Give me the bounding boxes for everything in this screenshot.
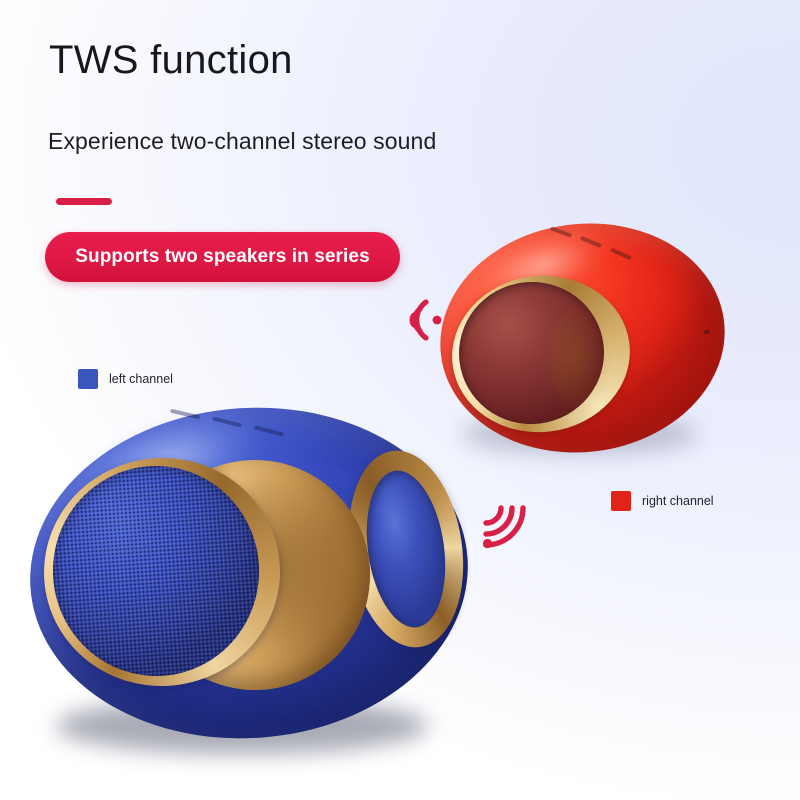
- legend-left-label: left channel: [109, 372, 173, 386]
- legend-right-swatch: [611, 491, 631, 511]
- wifi-signal-icon: [476, 498, 532, 554]
- feature-badge-label: Supports two speakers in series: [75, 246, 370, 268]
- legend-right-channel: right channel: [611, 491, 714, 511]
- product-feature-banner: TWS function Experience two-channel ster…: [0, 0, 800, 800]
- blue-speaker-mesh-texture: [46, 459, 266, 683]
- page-title: TWS function: [49, 38, 293, 83]
- legend-left-swatch: [78, 369, 98, 389]
- page-subtitle: Experience two-channel stereo sound: [48, 128, 436, 155]
- blue-speaker-product-image: [20, 398, 490, 768]
- legend-left-channel: left channel: [78, 369, 173, 389]
- legend-right-label: right channel: [642, 494, 714, 508]
- signal-wave-icon: [396, 294, 448, 346]
- blue-speaker-grille: [46, 459, 266, 683]
- feature-badge: Supports two speakers in series: [45, 232, 400, 282]
- accent-dash: [56, 198, 112, 205]
